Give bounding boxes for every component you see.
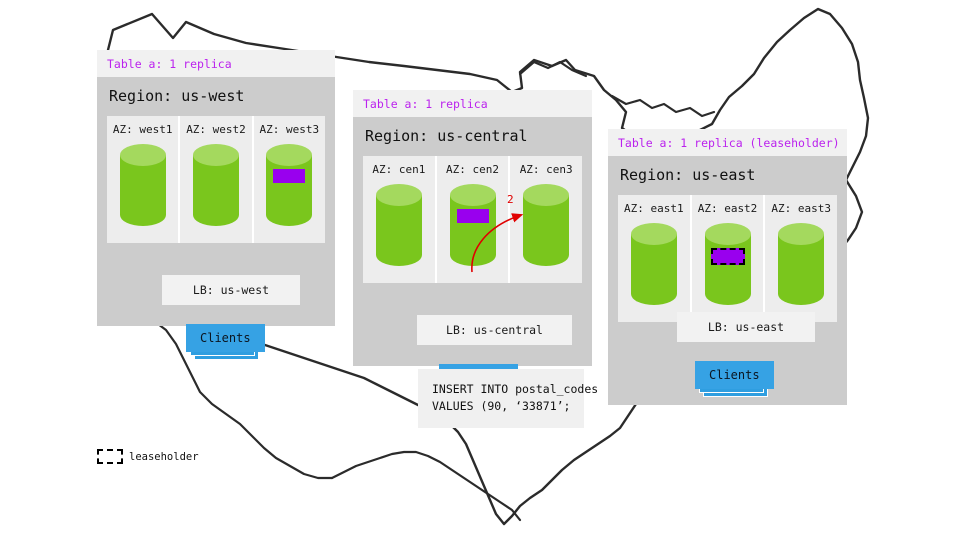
cylinder-icon <box>521 182 571 268</box>
az-row-us-east: AZ: east1 AZ: east2 <box>618 195 837 322</box>
clients-stack-us-east[interactable]: Clients <box>695 361 774 389</box>
region-header-us-west: Table a: 1 replica <box>97 50 335 77</box>
load-balancer-us-east[interactable]: LB: us-east <box>677 312 815 342</box>
clients-label-us-east[interactable]: Clients <box>695 361 774 389</box>
region-header-us-east: Table a: 1 replica (leaseholder) <box>608 129 847 156</box>
az-label-east3: AZ: east3 <box>765 202 837 215</box>
node-cylinder-cen1[interactable] <box>374 182 424 268</box>
az-cell-east2[interactable]: AZ: east2 <box>692 195 766 322</box>
replica-marker-west3 <box>273 169 305 183</box>
az-cell-west3[interactable]: AZ: west3 <box>254 116 325 243</box>
node-cylinder-cen3[interactable] <box>521 182 571 268</box>
legend-label: leaseholder <box>129 451 199 463</box>
leaseholder-marker-east2 <box>711 248 745 265</box>
node-cylinder-east2[interactable] <box>703 221 753 307</box>
clients-stack-us-west[interactable]: Clients <box>186 324 265 352</box>
az-label-east1: AZ: east1 <box>618 202 690 215</box>
node-cylinder-west1[interactable] <box>118 142 168 228</box>
dashed-rectangle-icon <box>97 449 123 464</box>
az-label-west3: AZ: west3 <box>254 123 325 136</box>
az-label-cen1: AZ: cen1 <box>363 163 435 176</box>
node-cylinder-west3[interactable] <box>264 142 314 228</box>
az-cell-west1[interactable]: AZ: west1 <box>107 116 180 243</box>
az-cell-east1[interactable]: AZ: east1 <box>618 195 692 322</box>
az-cell-cen3[interactable]: AZ: cen3 <box>510 156 582 283</box>
az-cell-cen2[interactable]: AZ: cen2 <box>437 156 511 283</box>
region-panel-us-east: Table a: 1 replica (leaseholder) Region:… <box>608 129 847 405</box>
node-cylinder-east1[interactable] <box>629 221 679 307</box>
region-panel-us-west: Table a: 1 replica Region: us-west AZ: w… <box>97 50 335 326</box>
cylinder-icon <box>629 221 679 307</box>
az-row-us-central: AZ: cen1 AZ: cen2 <box>363 156 582 283</box>
az-label-cen2: AZ: cen2 <box>437 163 509 176</box>
cylinder-icon <box>264 142 314 228</box>
az-label-east2: AZ: east2 <box>692 202 764 215</box>
az-cell-east3[interactable]: AZ: east3 <box>765 195 837 322</box>
az-cell-west2[interactable]: AZ: west2 <box>180 116 253 243</box>
load-balancer-us-central[interactable]: LB: us-central <box>417 315 572 345</box>
region-panel-us-central: Table a: 1 replica Region: us-central AZ… <box>353 90 592 366</box>
az-cell-cen1[interactable]: AZ: cen1 <box>363 156 437 283</box>
region-title-us-central: Region: us-central <box>353 117 592 156</box>
region-title-us-west: Region: us-west <box>97 77 335 116</box>
arrow-step-label-2: 2 <box>507 193 514 206</box>
load-balancer-us-west[interactable]: LB: us-west <box>162 275 300 305</box>
az-label-west1: AZ: west1 <box>107 123 178 136</box>
cylinder-icon <box>776 221 826 307</box>
diagram-canvas: Table a: 1 replica Region: us-west AZ: w… <box>0 0 960 540</box>
replica-marker-cen2 <box>457 209 489 223</box>
legend: leaseholder <box>97 449 199 464</box>
node-cylinder-east3[interactable] <box>776 221 826 307</box>
node-cylinder-west2[interactable] <box>191 142 241 228</box>
sql-statement-box: INSERT INTO postal_codes VALUES (90, ‘33… <box>418 369 584 428</box>
cylinder-icon <box>118 142 168 228</box>
region-title-us-east: Region: us-east <box>608 156 847 195</box>
az-row-us-west: AZ: west1 AZ: west2 <box>107 116 325 243</box>
node-cylinder-cen2[interactable] <box>448 182 498 268</box>
cylinder-icon <box>448 182 498 268</box>
cylinder-icon <box>374 182 424 268</box>
cylinder-icon <box>191 142 241 228</box>
region-header-us-central: Table a: 1 replica <box>353 90 592 117</box>
az-label-cen3: AZ: cen3 <box>510 163 582 176</box>
clients-label-us-west[interactable]: Clients <box>186 324 265 352</box>
az-label-west2: AZ: west2 <box>180 123 251 136</box>
